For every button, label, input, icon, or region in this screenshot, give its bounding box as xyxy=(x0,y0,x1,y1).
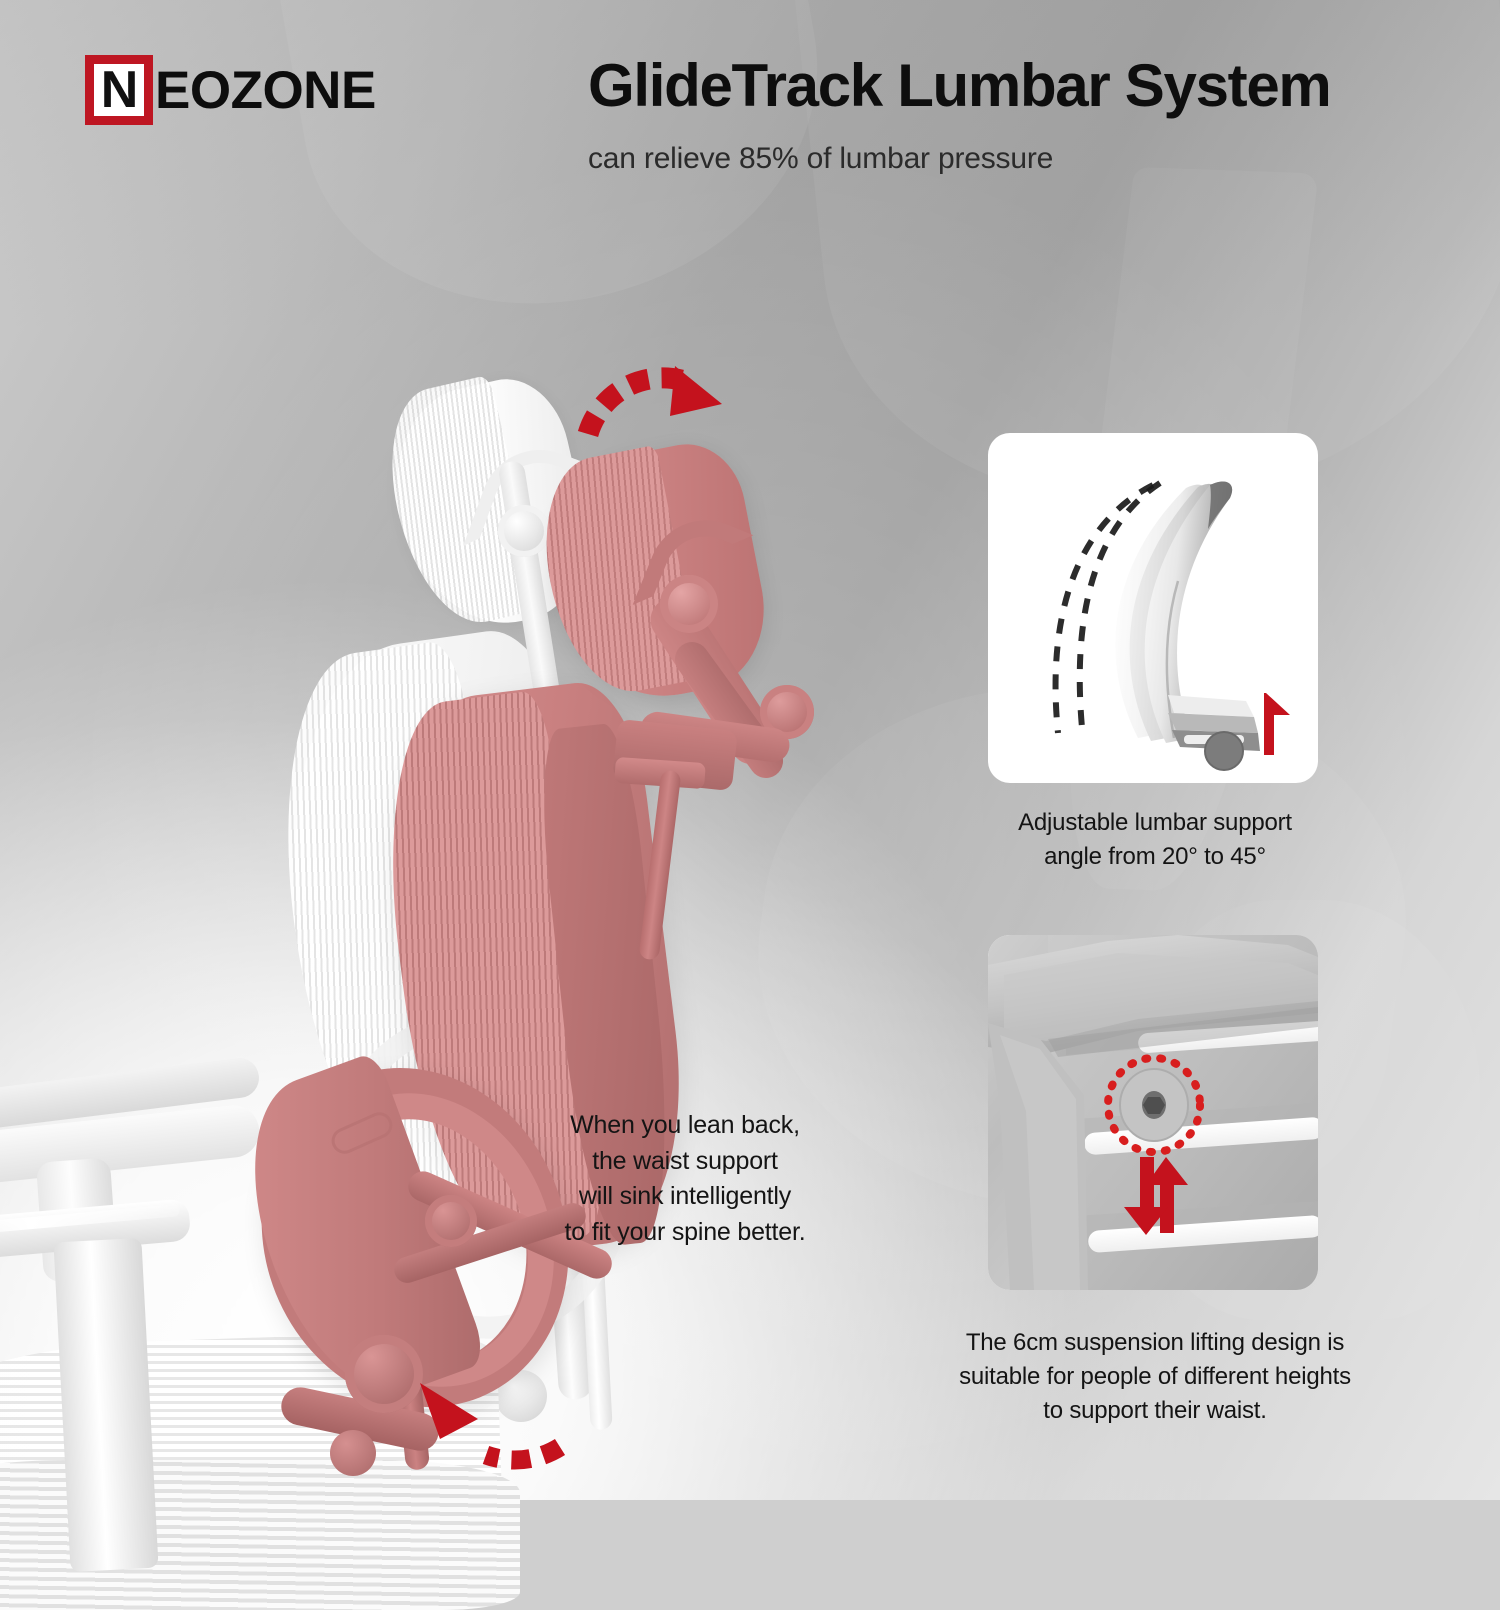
suspension-lift-caption-line-2: suitable for people of different heights xyxy=(930,1360,1380,1394)
highlight-adjust-knob-small xyxy=(330,1430,376,1476)
lift-up-arrow-icon xyxy=(1264,693,1290,755)
page-title: GlideTrack Lumbar System xyxy=(588,52,1348,120)
title-block: GlideTrack Lumbar System can relieve 85%… xyxy=(588,52,1348,176)
adjustable-angle-panel-card xyxy=(988,433,1318,783)
chair-gas-column xyxy=(53,1238,158,1572)
lean-back-caption: When you lean back, the waist support wi… xyxy=(520,1108,850,1250)
suspension-lift-caption-line-3: to support their waist. xyxy=(930,1394,1380,1428)
headrest-tilt-arrow-icon xyxy=(570,360,750,470)
adjustable-angle-caption: Adjustable lumbar support angle from 20°… xyxy=(960,806,1350,874)
brand-logo: N EOZONE xyxy=(85,55,376,125)
highlight-lumbar-pivot xyxy=(425,1195,477,1247)
logo-wordmark: EOZONE xyxy=(155,64,376,117)
logo-badge: N xyxy=(85,55,153,125)
lean-back-caption-line-4: to fit your spine better. xyxy=(520,1215,850,1251)
lumbar-sink-arrow-icon xyxy=(390,1335,590,1475)
suspension-lift-diagram xyxy=(988,935,1318,1290)
chair-illustration xyxy=(0,330,960,1500)
adjustable-angle-caption-line-2: angle from 20° to 45° xyxy=(960,840,1350,874)
highlight-headrest-pivot xyxy=(660,575,718,633)
page-subtitle: can relieve 85% of lumbar pressure xyxy=(588,142,1348,176)
lean-back-caption-line-3: will sink intelligently xyxy=(520,1179,850,1215)
ghost-headrest-pivot xyxy=(498,505,550,557)
header: N EOZONE GlideTrack Lumbar System can re… xyxy=(0,0,1500,300)
lean-back-caption-line-1: When you lean back, xyxy=(520,1108,850,1144)
suspension-lift-panel-card xyxy=(988,935,1318,1290)
suspension-lift-caption-line-1: The 6cm suspension lifting design is xyxy=(930,1326,1380,1360)
lean-back-caption-line-2: the waist support xyxy=(520,1144,850,1180)
logo-initial: N xyxy=(101,64,138,116)
adjustable-angle-caption-line-1: Adjustable lumbar support xyxy=(960,806,1350,840)
suspension-lift-caption: The 6cm suspension lifting design is sui… xyxy=(930,1326,1380,1428)
lumbar-angle-diagram xyxy=(988,433,1318,783)
